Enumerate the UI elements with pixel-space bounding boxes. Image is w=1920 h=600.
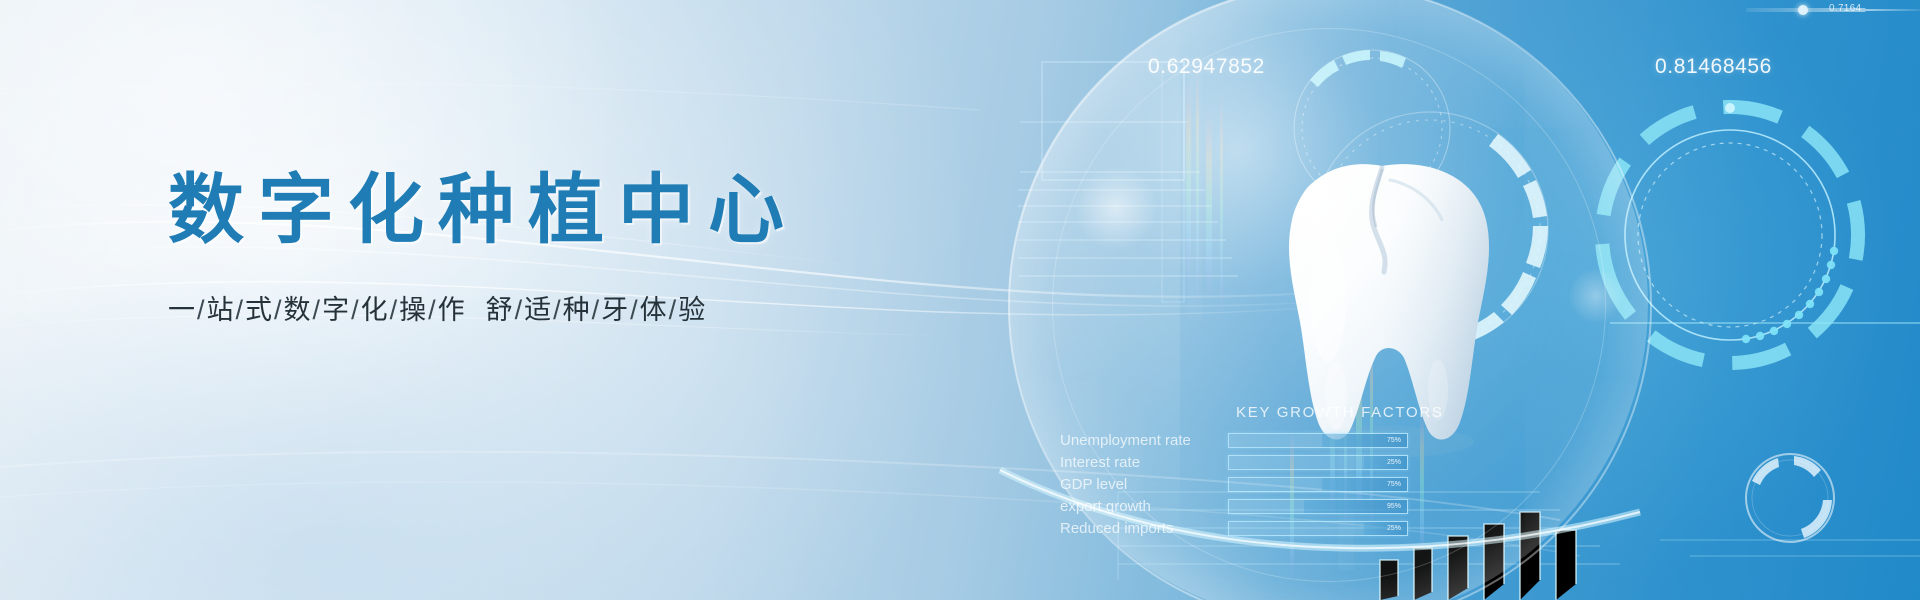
slider-track[interactable] [1746, 8, 1866, 12]
subtitle-separator: / [196, 295, 207, 325]
subtitle-separator: / [389, 295, 400, 325]
tooth-illustration [1232, 150, 1532, 460]
subtitle-separator: / [273, 295, 284, 325]
chart-category-label: export growth [1060, 498, 1192, 515]
chart-category-label: Unemployment rate [1060, 432, 1192, 449]
page-title: 数字化种植中心 [168, 172, 798, 250]
page-subtitle: 一/站/式/数/字/化/操/作舒/适/种/牙/体/验 [168, 288, 798, 327]
chart-bar-fill [1304, 500, 1407, 513]
subtitle-separator: / [591, 295, 602, 325]
subtitle-char: 操 [399, 295, 427, 325]
slider-value: 0.7164 [1829, 3, 1861, 14]
subtitle-char: 字 [322, 295, 350, 325]
subtitle-separator: / [427, 295, 438, 325]
chart-bar: 25% [1228, 521, 1408, 536]
chart-row: export growth95% [1228, 499, 1444, 514]
chart-row: Reduced imports25% [1228, 521, 1444, 536]
hud-readout-right: 0.81468456 [1655, 55, 1772, 79]
chart-bar-fill [1364, 522, 1407, 535]
subtitle-separator: / [552, 295, 563, 325]
subtitle-char: 体 [640, 295, 668, 325]
chart-bar-fill [1322, 478, 1407, 491]
chart-category-label: GDP level [1060, 476, 1192, 493]
subtitle-char: 作 [438, 295, 466, 325]
hero-text-block: 数字化种植中心 一/站/式/数/字/化/操/作舒/适/种/牙/体/验 [168, 172, 798, 327]
subtitle-char: 适 [524, 295, 552, 325]
chart-value-label: 95% [1387, 500, 1401, 513]
subtitle-separator: / [629, 295, 640, 325]
subtitle-separator: / [350, 295, 361, 325]
subtitle-separator: / [312, 295, 323, 325]
subtitle-char: 牙 [601, 295, 629, 325]
subtitle-char: 验 [678, 295, 706, 325]
chart-category-label: Reduced imports [1060, 520, 1192, 537]
chart-row: GDP level75% [1228, 477, 1444, 492]
subtitle-char: 一 [168, 295, 196, 325]
subtitle-char: 式 [245, 295, 273, 325]
subtitle-char: 种 [563, 295, 591, 325]
banner-hero: 0.62947852 0.81468456 0.7164 KEY GROWTH … [0, 0, 1920, 600]
hud-readout-left: 0.62947852 [1148, 55, 1265, 79]
slider-knob[interactable] [1798, 5, 1808, 15]
subtitle-char: 数 [284, 295, 312, 325]
subtitle-separator: / [668, 295, 679, 325]
hud-top-slider[interactable]: 0.7164 [1746, 5, 1916, 15]
subtitle-char: 站 [207, 295, 235, 325]
subtitle-char: 化 [361, 295, 389, 325]
subtitle-separator: / [514, 295, 525, 325]
chart-bar: 95% [1228, 499, 1408, 514]
chart-category-label: Interest rate [1060, 454, 1192, 471]
slider-tail [1866, 9, 1920, 11]
subtitle-separator: / [235, 295, 246, 325]
subtitle-char: 舒 [486, 295, 514, 325]
chart-value-label: 25% [1387, 522, 1401, 535]
chart-value-label: 75% [1387, 478, 1401, 491]
chart-bar: 75% [1228, 477, 1408, 492]
